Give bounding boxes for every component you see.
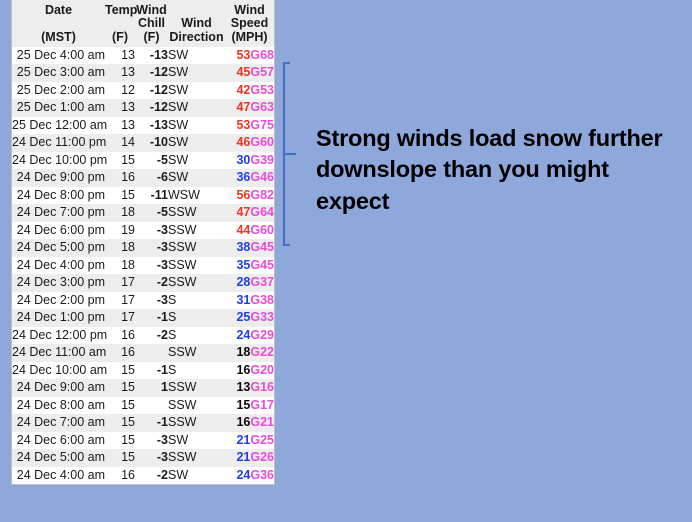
cell-date: 24 Dec 11:00 pm [12,134,105,152]
wind-speed-sustained: 30 [236,153,250,167]
table-row: 24 Dec 7:00 pm18-5SSW47G64 [12,204,274,222]
slide-canvas: Date (MST) Temp (F) [0,0,692,522]
weather-observation-table: Date (MST) Temp (F) [11,0,275,485]
cell-wind-chill [135,397,168,415]
cell-wind-speed: 46G60 [225,134,274,152]
cell-wind-chill: -3 [135,292,168,310]
cell-wind-direction: SSW [168,239,225,257]
column-header-wind-direction: Wind Direction [168,0,225,47]
wind-speed-sustained: 24 [236,468,250,482]
cell-wind-speed: 16G21 [225,414,274,432]
cell-date: 24 Dec 4:00 am [12,467,105,485]
cell-wind-direction: SW [168,134,225,152]
cell-wind-speed: 44G60 [225,222,274,240]
table-row: 24 Dec 12:00 pm16-2S24G29 [12,327,274,345]
cell-wind-chill: -3 [135,449,168,467]
table-row: 24 Dec 10:00 am15-1S16G20 [12,362,274,380]
wind-speed-gust: G16 [250,380,274,394]
cell-wind-chill: -2 [135,327,168,345]
table-row: 24 Dec 9:00 pm16-6SW36G46 [12,169,274,187]
wind-speed-gust: G46 [250,170,274,184]
wind-speed-sustained: 21 [236,433,250,447]
cell-wind-speed: 25G33 [225,309,274,327]
table-row: 24 Dec 3:00 pm17-2SSW28G37 [12,274,274,292]
cell-wind-chill: -11 [135,187,168,205]
table-row: 24 Dec 7:00 am15-1SSW16G21 [12,414,274,432]
cell-date: 25 Dec 4:00 am [12,47,105,65]
wind-speed-gust: G60 [250,135,274,149]
wind-speed-gust: G29 [250,328,274,342]
cell-temp: 16 [105,169,135,187]
table-row: 24 Dec 5:00 pm18-3SSW38G45 [12,239,274,257]
wind-speed-sustained: 44 [236,223,250,237]
cell-wind-speed: 21G26 [225,449,274,467]
annotation-text: Strong winds load snow further downslope… [316,123,684,217]
cell-date: 25 Dec 3:00 am [12,64,105,82]
cell-temp: 16 [105,327,135,345]
cell-wind-chill: -13 [135,117,168,135]
cell-wind-chill: 1 [135,379,168,397]
table-header: Date (MST) Temp (F) [12,0,274,47]
cell-date: 24 Dec 7:00 pm [12,204,105,222]
cell-wind-direction: S [168,327,225,345]
wind-speed-gust: G36 [250,468,274,482]
cell-wind-direction: SW [168,169,225,187]
cell-wind-direction: SSW [168,397,225,415]
cell-wind-chill: -6 [135,169,168,187]
cell-wind-speed: 24G29 [225,327,274,345]
cell-wind-chill: -5 [135,152,168,170]
cell-date: 24 Dec 5:00 am [12,449,105,467]
cell-wind-direction: SSW [168,274,225,292]
header-wind-chill-label: Wind Chill [135,4,168,31]
wind-speed-sustained: 42 [236,83,250,97]
cell-date: 24 Dec 10:00 am [12,362,105,380]
table-row: 24 Dec 1:00 pm17-1S25G33 [12,309,274,327]
cell-temp: 13 [105,117,135,135]
cell-wind-chill: -10 [135,134,168,152]
cell-date: 24 Dec 8:00 pm [12,187,105,205]
table-row: 25 Dec 4:00 am13-13SW53G68 [12,47,274,65]
wind-speed-sustained: 16 [236,415,250,429]
cell-wind-speed: 53G75 [225,117,274,135]
cell-date: 24 Dec 4:00 pm [12,257,105,275]
cell-wind-chill: -12 [135,82,168,100]
cell-wind-speed: 36G46 [225,169,274,187]
obs-table: Date (MST) Temp (F) [12,0,274,484]
cell-temp: 13 [105,99,135,117]
column-header-temp: Temp (F) [105,0,135,47]
cell-temp: 15 [105,432,135,450]
cell-wind-speed: 15G17 [225,397,274,415]
wind-speed-sustained: 15 [236,398,250,412]
cell-temp: 18 [105,204,135,222]
wind-speed-sustained: 46 [236,135,250,149]
cell-date: 24 Dec 10:00 pm [12,152,105,170]
wind-speed-sustained: 53 [236,48,250,62]
cell-temp: 16 [105,467,135,485]
cell-date: 24 Dec 5:00 pm [12,239,105,257]
cell-date: 24 Dec 2:00 pm [12,292,105,310]
cell-wind-chill: -3 [135,222,168,240]
cell-date: 24 Dec 1:00 pm [12,309,105,327]
cell-wind-speed: 56G82 [225,187,274,205]
cell-wind-direction: SSW [168,204,225,222]
bracket-icon [282,62,300,246]
table-row: 24 Dec 10:00 pm15-5SW30G39 [12,152,274,170]
cell-temp: 13 [105,47,135,65]
cell-temp: 15 [105,152,135,170]
cell-temp: 15 [105,187,135,205]
wind-speed-gust: G53 [250,83,274,97]
wind-speed-gust: G37 [250,275,274,289]
cell-wind-chill: -1 [135,414,168,432]
table-row: 24 Dec 4:00 pm18-3SSW35G45 [12,257,274,275]
header-wind-speed-unit: (MPH) [225,31,274,47]
cell-wind-chill: -3 [135,432,168,450]
cell-temp: 15 [105,397,135,415]
cell-wind-direction: S [168,309,225,327]
cell-wind-speed: 42G53 [225,82,274,100]
cell-wind-direction: SW [168,47,225,65]
column-header-date: Date (MST) [12,0,105,47]
wind-speed-sustained: 28 [236,275,250,289]
wind-speed-gust: G25 [250,433,274,447]
wind-speed-sustained: 13 [236,380,250,394]
cell-wind-direction: SW [168,117,225,135]
wind-speed-sustained: 16 [236,363,250,377]
table-row: 24 Dec 4:00 am16-2SW24G36 [12,467,274,485]
cell-wind-speed: 18G22 [225,344,274,362]
cell-temp: 19 [105,222,135,240]
table-row: 24 Dec 8:00 pm15-11WSW56G82 [12,187,274,205]
header-wind-direction-label: Wind Direction [168,17,225,44]
cell-date: 25 Dec 2:00 am [12,82,105,100]
cell-temp: 14 [105,134,135,152]
header-temp-unit: (F) [105,31,135,47]
table-row: 25 Dec 1:00 am13-12SW47G63 [12,99,274,117]
cell-wind-speed: 30G39 [225,152,274,170]
header-temp-label: Temp [105,4,135,17]
cell-temp: 15 [105,362,135,380]
cell-wind-chill: -13 [135,47,168,65]
wind-speed-gust: G17 [250,398,274,412]
wind-speed-sustained: 36 [236,170,250,184]
header-date-label: Date [12,4,105,17]
cell-wind-speed: 38G45 [225,239,274,257]
cell-wind-speed: 53G68 [225,47,274,65]
column-header-wind-speed: Wind Speed (MPH) [225,0,274,47]
cell-temp: 12 [105,82,135,100]
wind-speed-sustained: 24 [236,328,250,342]
cell-wind-speed: 28G37 [225,274,274,292]
cell-temp: 15 [105,449,135,467]
cell-wind-chill [135,344,168,362]
cell-wind-direction: S [168,362,225,380]
table-row: 24 Dec 5:00 am15-3SSW21G26 [12,449,274,467]
table-row: 24 Dec 11:00 am16SSW18G22 [12,344,274,362]
cell-date: 24 Dec 6:00 pm [12,222,105,240]
wind-speed-gust: G82 [250,188,274,202]
cell-temp: 13 [105,64,135,82]
wind-speed-gust: G75 [250,118,274,132]
wind-speed-gust: G63 [250,100,274,114]
wind-speed-gust: G68 [250,48,274,62]
cell-wind-speed: 13G16 [225,379,274,397]
cell-wind-chill: -2 [135,274,168,292]
cell-wind-chill: -2 [135,467,168,485]
cell-wind-chill: -1 [135,362,168,380]
cell-wind-direction: SSW [168,257,225,275]
wind-speed-gust: G64 [250,205,274,219]
cell-wind-direction: SSW [168,222,225,240]
header-wind-speed-label: Wind Speed [225,4,274,31]
cell-wind-chill: -3 [135,239,168,257]
wind-speed-gust: G21 [250,415,274,429]
wind-speed-sustained: 21 [236,450,250,464]
cell-wind-speed: 47G64 [225,204,274,222]
wind-speed-sustained: 53 [236,118,250,132]
cell-wind-chill: -3 [135,257,168,275]
cell-temp: 17 [105,274,135,292]
table-row: 25 Dec 2:00 am12-12SW42G53 [12,82,274,100]
cell-temp: 16 [105,344,135,362]
wind-speed-sustained: 31 [236,293,250,307]
table-row: 24 Dec 9:00 am151SSW13G16 [12,379,274,397]
wind-speed-gust: G60 [250,223,274,237]
cell-temp: 15 [105,414,135,432]
cell-wind-speed: 47G63 [225,99,274,117]
wind-speed-gust: G33 [250,310,274,324]
cell-wind-chill: -12 [135,99,168,117]
wind-speed-gust: G26 [250,450,274,464]
cell-wind-speed: 35G45 [225,257,274,275]
annotation-line-2: downslope than you might expect [316,154,684,217]
callout-bracket [282,62,300,246]
wind-speed-gust: G45 [250,240,274,254]
cell-date: 24 Dec 8:00 am [12,397,105,415]
cell-date: 24 Dec 6:00 am [12,432,105,450]
wind-speed-gust: G22 [250,345,274,359]
cell-wind-chill: -5 [135,204,168,222]
table-row: 25 Dec 12:00 am13-13SW53G75 [12,117,274,135]
table-row: 24 Dec 6:00 am15-3SW21G25 [12,432,274,450]
annotation-line-1: Strong winds load snow further [316,123,684,154]
cell-date: 24 Dec 7:00 am [12,414,105,432]
wind-speed-gust: G45 [250,258,274,272]
wind-speed-sustained: 35 [236,258,250,272]
cell-wind-speed: 45G57 [225,64,274,82]
cell-wind-direction: SW [168,99,225,117]
cell-temp: 18 [105,257,135,275]
cell-wind-direction: SSW [168,449,225,467]
cell-wind-speed: 16G20 [225,362,274,380]
table-row: 24 Dec 2:00 pm17-3S31G38 [12,292,274,310]
header-row: Date (MST) Temp (F) [12,0,274,47]
table-row: 24 Dec 8:00 am15SSW15G17 [12,397,274,415]
cell-date: 24 Dec 9:00 pm [12,169,105,187]
column-header-wind-chill: Wind Chill (F) [135,0,168,47]
cell-wind-speed: 31G38 [225,292,274,310]
cell-wind-chill: -12 [135,64,168,82]
cell-date: 24 Dec 11:00 am [12,344,105,362]
wind-speed-gust: G38 [250,293,274,307]
cell-temp: 15 [105,379,135,397]
cell-date: 24 Dec 9:00 am [12,379,105,397]
cell-date: 24 Dec 12:00 pm [12,327,105,345]
table-body: 25 Dec 4:00 am13-13SW53G6825 Dec 3:00 am… [12,47,274,485]
wind-speed-sustained: 45 [236,65,250,79]
wind-speed-gust: G39 [250,153,274,167]
cell-temp: 17 [105,292,135,310]
cell-wind-speed: 24G36 [225,467,274,485]
header-wind-chill-unit: (F) [135,31,168,47]
wind-speed-sustained: 47 [236,205,250,219]
wind-speed-sustained: 18 [236,345,250,359]
cell-wind-direction: SW [168,467,225,485]
wind-speed-sustained: 47 [236,100,250,114]
cell-wind-direction: SSW [168,344,225,362]
cell-wind-direction: SSW [168,379,225,397]
cell-temp: 18 [105,239,135,257]
header-date-unit: (MST) [12,31,105,47]
cell-temp: 17 [105,309,135,327]
wind-speed-gust: G57 [250,65,274,79]
cell-date: 25 Dec 1:00 am [12,99,105,117]
cell-wind-direction: WSW [168,187,225,205]
cell-wind-direction: SSW [168,414,225,432]
wind-speed-gust: G20 [250,363,274,377]
cell-wind-chill: -1 [135,309,168,327]
table-row: 25 Dec 3:00 am13-12SW45G57 [12,64,274,82]
cell-wind-direction: SW [168,64,225,82]
cell-wind-direction: S [168,292,225,310]
cell-wind-direction: SW [168,152,225,170]
wind-speed-sustained: 25 [236,310,250,324]
wind-speed-sustained: 56 [236,188,250,202]
table-row: 24 Dec 6:00 pm19-3SSW44G60 [12,222,274,240]
cell-wind-direction: SW [168,432,225,450]
cell-wind-speed: 21G25 [225,432,274,450]
cell-date: 25 Dec 12:00 am [12,117,105,135]
table-row: 24 Dec 11:00 pm14-10SW46G60 [12,134,274,152]
cell-date: 24 Dec 3:00 pm [12,274,105,292]
cell-wind-direction: SW [168,82,225,100]
wind-speed-sustained: 38 [236,240,250,254]
